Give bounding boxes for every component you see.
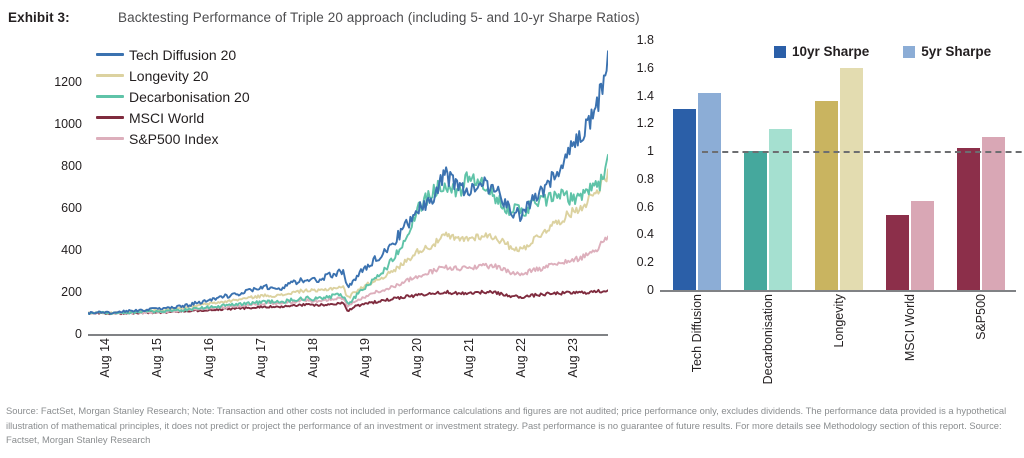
bar-chart-legend: 10yr Sharpe5yr Sharpe <box>774 44 1024 59</box>
bar-10yr-sharpe <box>815 101 838 290</box>
line-chart-x-axis-line <box>88 334 608 336</box>
line-x-tick-label: Aug 23 <box>566 338 580 378</box>
legend-item-label: MSCI World <box>129 110 204 126</box>
legend-line-swatch-icon <box>96 95 124 98</box>
line-x-tick-label: Aug 21 <box>462 338 476 378</box>
legend-item-decarbonisation-20: Decarbonisation 20 <box>96 86 316 107</box>
line-x-tick-label: Aug 16 <box>202 338 216 378</box>
legend-item-msci-world: MSCI World <box>96 107 316 128</box>
bar-group-longevity <box>815 40 863 290</box>
legend-item-label: S&P500 Index <box>129 131 219 147</box>
exhibit-header: Exhibit 3: Backtesting Performance of Tr… <box>8 8 1016 34</box>
legend-item-longevity-20: Longevity 20 <box>96 65 316 86</box>
bar-legend-item-10yr-sharpe: 10yr Sharpe <box>774 44 869 59</box>
line-y-tick-label: 1200 <box>54 75 82 89</box>
bar-x-tick-label: S&P500 <box>974 294 988 340</box>
bar-10yr-sharpe <box>673 109 696 290</box>
bar-5yr-sharpe <box>982 137 1005 290</box>
bar-y-tick-label: 1.4 <box>637 89 654 103</box>
sharpe-ratio-bar-chart: 00.20.40.60.811.21.41.61.8 Tech Diffusio… <box>616 34 1024 404</box>
bar-y-tick-label: 1 <box>647 144 654 158</box>
bar-5yr-sharpe <box>911 201 934 290</box>
bar-legend-item-label: 5yr Sharpe <box>921 44 991 59</box>
bar-legend-item-label: 10yr Sharpe <box>792 44 869 59</box>
legend-item-label: Tech Diffusion 20 <box>129 47 236 63</box>
line-x-tick-label: Aug 14 <box>98 338 112 378</box>
bar-y-tick-label: 0.4 <box>637 227 654 241</box>
bar-x-tick-label: Decarbonisation <box>761 294 775 384</box>
bar-group-decarbonisation <box>744 40 792 290</box>
bar-10yr-sharpe <box>886 215 909 290</box>
performance-line-chart: 020040060080010001200 Aug 14Aug 15Aug 16… <box>0 34 616 404</box>
bar-y-tick-label: 1.8 <box>637 33 654 47</box>
line-y-tick-label: 1000 <box>54 117 82 131</box>
bar-x-tick-label: Tech Diffusion <box>690 294 704 372</box>
bar-chart-x-axis: Tech DiffusionDecarbonisationLongevityMS… <box>662 294 1016 394</box>
line-y-tick-label: 0 <box>75 327 82 341</box>
page-title: Backtesting Performance of Triple 20 app… <box>118 10 640 25</box>
line-x-tick-label: Aug 18 <box>306 338 320 378</box>
line-y-tick-label: 200 <box>61 285 82 299</box>
bar-legend-item-5yr-sharpe: 5yr Sharpe <box>903 44 991 59</box>
legend-item-label: Decarbonisation 20 <box>129 89 250 105</box>
line-y-tick-label: 800 <box>61 159 82 173</box>
bar-10yr-sharpe <box>957 148 980 290</box>
legend-line-swatch-icon <box>96 137 124 140</box>
line-x-tick-label: Aug 20 <box>410 338 424 378</box>
bar-group-tech-diffusion <box>673 40 721 290</box>
line-series-decarbonisation-20 <box>88 155 608 314</box>
bar-y-tick-label: 0.2 <box>637 255 654 269</box>
legend-item-s-p500-index: S&P500 Index <box>96 128 316 149</box>
bar-10yr-sharpe <box>744 151 767 290</box>
line-chart-legend: Tech Diffusion 20Longevity 20Decarbonisa… <box>96 44 316 149</box>
bar-legend-swatch-icon <box>903 46 915 58</box>
reference-line-1 <box>702 151 1024 153</box>
bar-legend-swatch-icon <box>774 46 786 58</box>
bar-5yr-sharpe <box>698 93 721 290</box>
source-footnote: Source: FactSet, Morgan Stanley Research… <box>6 404 1014 448</box>
line-y-tick-label: 400 <box>61 243 82 257</box>
line-x-tick-label: Aug 17 <box>254 338 268 378</box>
bar-chart-y-axis: 00.20.40.60.811.21.41.61.8 <box>618 40 654 290</box>
legend-line-swatch-icon <box>96 74 124 77</box>
line-x-tick-label: Aug 15 <box>150 338 164 378</box>
bar-y-tick-label: 1.6 <box>637 61 654 75</box>
line-x-tick-label: Aug 22 <box>514 338 528 378</box>
line-series-longevity-20 <box>88 169 608 313</box>
bar-y-tick-label: 1.2 <box>637 116 654 130</box>
legend-item-tech-diffusion-20: Tech Diffusion 20 <box>96 44 316 65</box>
bar-x-tick-label: MSCI World <box>903 294 917 361</box>
legend-item-label: Longevity 20 <box>129 68 208 84</box>
line-x-tick-label: Aug 19 <box>358 338 372 378</box>
line-y-tick-label: 600 <box>61 201 82 215</box>
legend-line-swatch-icon <box>96 116 124 119</box>
exhibit-label: Exhibit 3: <box>8 10 70 25</box>
bar-y-tick-label: 0.6 <box>637 200 654 214</box>
line-chart-x-axis: Aug 14Aug 15Aug 16Aug 17Aug 18Aug 19Aug … <box>88 338 613 404</box>
line-chart-y-axis: 020040060080010001200 <box>42 40 82 334</box>
legend-line-swatch-icon <box>96 53 124 56</box>
bar-y-tick-label: 0.8 <box>637 172 654 186</box>
bar-chart-plot-area <box>662 40 1016 290</box>
bar-group-msci-world <box>886 40 934 290</box>
bar-y-tick-label: 0 <box>647 283 654 297</box>
bar-x-tick-label: Longevity <box>832 294 846 348</box>
bar-group-s-p500 <box>957 40 1005 290</box>
bar-5yr-sharpe <box>840 68 863 290</box>
bar-chart-x-axis-line <box>660 290 1016 292</box>
